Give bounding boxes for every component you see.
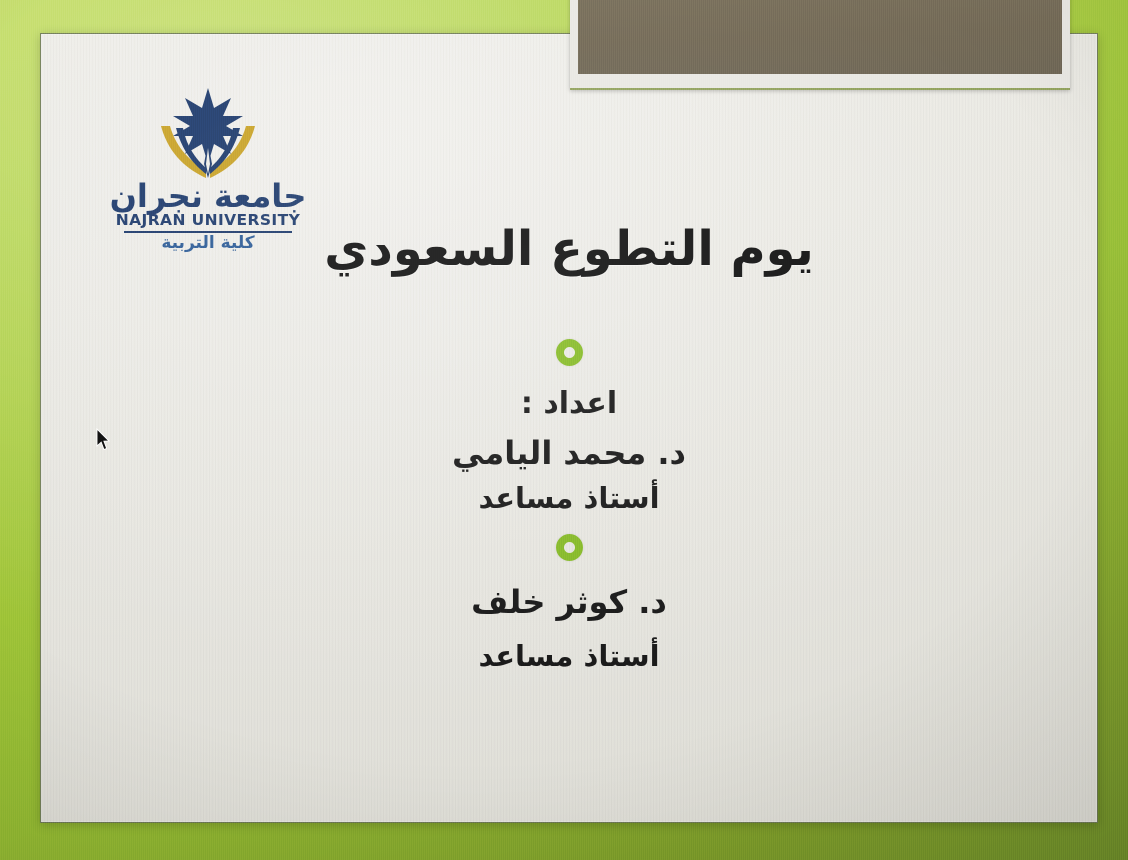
brown-toolbar-frame[interactable]	[570, 0, 1070, 90]
credits-block-one: اعداد : د. محمد اليامي أستاذ مساعد	[41, 339, 1097, 515]
author-name-two: د. كوثر خلف	[41, 583, 1097, 621]
presentation-slide: جامعة نجران NAJRAN UNIVERSITY كلية الترب…	[40, 33, 1098, 823]
credits-block-two: د. كوثر خلف أستاذ مساعد	[41, 534, 1097, 673]
slide-content: يوم التطوع السعودي اعداد : د. محمد اليام…	[41, 34, 1097, 822]
mouse-pointer-icon	[96, 428, 112, 452]
author-name-one: د. محمد اليامي	[41, 434, 1097, 472]
photographed-screen: جامعة نجران NAJRAN UNIVERSITY كلية الترب…	[0, 0, 1128, 860]
prepared-by-label: اعداد :	[41, 386, 1097, 421]
brown-toolbar-panel[interactable]	[578, 0, 1062, 74]
author-rank-one: أستاذ مساعد	[41, 481, 1097, 515]
green-ring-bullet-icon	[556, 534, 583, 561]
slide-title: يوم التطوع السعودي	[41, 222, 1097, 277]
green-ring-bullet-icon	[556, 339, 583, 366]
author-rank-two: أستاذ مساعد	[41, 639, 1097, 673]
